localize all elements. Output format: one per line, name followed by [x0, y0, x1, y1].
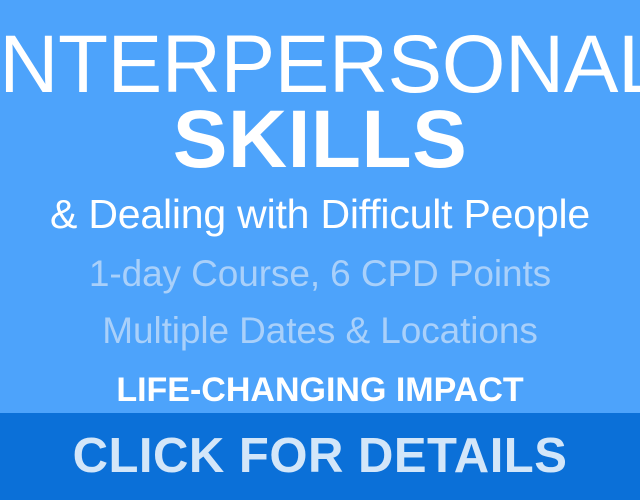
course-detail-duration-cpd: 1-day Course, 6 CPD Points: [89, 255, 551, 292]
cta-button-label: CLICK FOR DETAILS: [73, 432, 568, 481]
course-detail-dates-locations: Multiple Dates & Locations: [102, 312, 537, 349]
cta-button[interactable]: CLICK FOR DETAILS: [0, 413, 640, 500]
impact-tagline: LIFE-CHANGING IMPACT: [116, 373, 523, 407]
headline-primary: INTERPERSONAL: [0, 26, 640, 105]
subheadline: & Dealing with Difficult People: [50, 193, 590, 236]
course-advertisement-banner[interactable]: INTERPERSONAL SKILLS & Dealing with Diff…: [0, 0, 640, 500]
headline-secondary: SKILLS: [173, 101, 468, 180]
banner-message-area: INTERPERSONAL SKILLS & Dealing with Diff…: [0, 0, 640, 413]
